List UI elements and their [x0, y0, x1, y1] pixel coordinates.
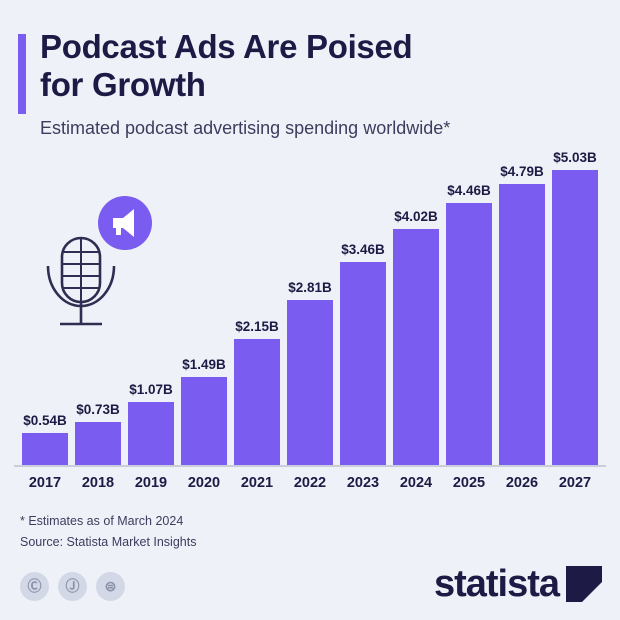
page-title: Podcast Ads Are Poised for Growth — [40, 28, 598, 104]
bar-label-2019: $1.07B — [128, 382, 174, 397]
bar-rect-2020 — [181, 377, 227, 465]
bar-label-2018: $0.73B — [75, 402, 121, 417]
bar-label-2026: $4.79B — [499, 164, 545, 179]
x-tick-2025: 2025 — [446, 475, 492, 491]
bar-2019: $1.07B — [128, 382, 174, 465]
chart: $0.54B $0.73B $1.07B $1.49B $2.15B $2.81… — [0, 170, 620, 500]
bar-rect-2017 — [22, 433, 68, 465]
bar-rect-2023 — [340, 262, 386, 465]
x-tick-2027: 2027 — [552, 475, 598, 491]
bar-label-2022: $2.81B — [287, 280, 333, 295]
title-accent-bar — [18, 34, 26, 114]
x-tick-2020: 2020 — [181, 475, 227, 491]
x-tick-2018: 2018 — [75, 475, 121, 491]
bar-label-2017: $0.54B — [22, 413, 68, 428]
bar-2020: $1.49B — [181, 357, 227, 465]
bar-label-2020: $1.49B — [181, 357, 227, 372]
header: Podcast Ads Are Poised for Growth Estima… — [18, 28, 598, 139]
bar-2022: $2.81B — [287, 280, 333, 465]
footnotes: * Estimates as of March 2024 Source: Sta… — [20, 512, 196, 554]
bar-rect-2021 — [234, 339, 280, 465]
infographic-root: Podcast Ads Are Poised for Growth Estima… — [0, 0, 620, 620]
bar-label-2027: $5.03B — [552, 150, 598, 165]
creative-commons-icons: Ⓒ Ⓙ ⊜ — [20, 572, 125, 601]
x-tick-2024: 2024 — [393, 475, 439, 491]
bar-2018: $0.73B — [75, 402, 121, 465]
bar-rect-2022 — [287, 300, 333, 465]
bar-rect-2026 — [499, 184, 545, 465]
bar-2026: $4.79B — [499, 164, 545, 465]
x-axis-labels: 2017 2018 2019 2020 2021 2022 2023 2024 … — [14, 470, 606, 498]
x-axis-line — [14, 465, 606, 467]
title-line-1: Podcast Ads Are Poised — [40, 28, 412, 65]
bar-2017: $0.54B — [22, 413, 68, 465]
bar-2024: $4.02B — [393, 209, 439, 465]
x-tick-2021: 2021 — [234, 475, 280, 491]
footer: Ⓒ Ⓙ ⊜ statista — [0, 556, 620, 620]
estimate-note: * Estimates as of March 2024 — [20, 512, 196, 531]
x-tick-2023: 2023 — [340, 475, 386, 491]
source-note: Source: Statista Market Insights — [20, 533, 196, 552]
x-tick-2022: 2022 — [287, 475, 333, 491]
title-line-2: for Growth — [40, 66, 206, 103]
bar-2023: $3.46B — [340, 242, 386, 465]
bar-2021: $2.15B — [234, 319, 280, 465]
bar-rect-2027 — [552, 170, 598, 465]
statista-logo[interactable]: statista — [434, 564, 602, 604]
bar-rect-2019 — [128, 402, 174, 465]
cc-icon[interactable]: Ⓒ — [20, 572, 49, 601]
page-subtitle: Estimated podcast advertising spending w… — [40, 118, 598, 139]
x-tick-2017: 2017 — [22, 475, 68, 491]
nd-icon[interactable]: ⊜ — [96, 572, 125, 601]
bar-label-2025: $4.46B — [446, 183, 492, 198]
bar-rect-2025 — [446, 203, 492, 465]
by-icon[interactable]: Ⓙ — [58, 572, 87, 601]
plot-area: $0.54B $0.73B $1.07B $1.49B $2.15B $2.81… — [14, 170, 606, 465]
bar-label-2023: $3.46B — [340, 242, 386, 257]
statista-mark-icon — [566, 566, 602, 602]
bar-label-2024: $4.02B — [393, 209, 439, 224]
x-tick-2026: 2026 — [499, 475, 545, 491]
bar-2027: $5.03B — [552, 150, 598, 465]
bar-rect-2018 — [75, 422, 121, 465]
bar-rect-2024 — [393, 229, 439, 465]
statista-wordmark: statista — [434, 564, 559, 604]
x-tick-2019: 2019 — [128, 475, 174, 491]
bar-label-2021: $2.15B — [234, 319, 280, 334]
bar-2025: $4.46B — [446, 183, 492, 465]
